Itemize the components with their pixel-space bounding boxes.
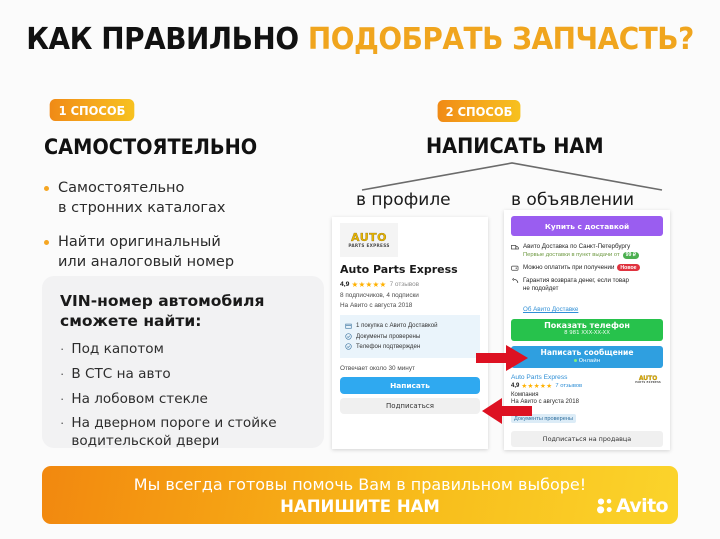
avito-logo: Avito [597,495,668,517]
star-rating-icon: ★★★★★ [351,280,386,289]
delivery-city-text: Авито Доставка по Санкт-Петербургу [523,243,639,251]
dash-bullet-icon: · [60,341,64,358]
list-item: · На дверном пороге и стойке водительско… [60,415,308,451]
list-item: · В СТС на авто [60,366,308,384]
bullet-dot-icon [44,186,49,191]
dash-bullet-icon: · [60,391,64,408]
subscribe-button[interactable]: Подписаться [340,398,480,414]
list-item: Можно оплатить при получении Новое [511,264,663,272]
delivery-price-row: Первые доставки в пункт выдачи от 99 ₽ [523,252,639,259]
method-2-sub-label-profile: в профиле [356,190,451,210]
trust-item-text: Телефон подтвержден [356,343,420,350]
logo-primary-text: AUTO [351,232,387,243]
money-back-guarantee-text: Гарантия возврата денег, если товар не п… [523,277,629,293]
method-1-badge: 1 СПОСОБ [50,99,135,121]
avito-wordmark: Avito [616,495,668,517]
new-badge: Новое [617,264,639,271]
reviews-count[interactable]: 7 отзывов [390,281,419,288]
poster-canvas: КАК ПРАВИЛЬНО ПОДОБРАТЬ ЗАПЧАСТЬ? 1 СПОС… [0,0,720,539]
write-button[interactable]: Написать [340,377,480,394]
about-delivery-link[interactable]: Об Авито Доставке [523,306,578,313]
masked-phone-number: 8 981 XXX-XX-XX [564,331,610,337]
avito-profile-card: AUTO PARTS EXPRESS Auto Parts Express 4,… [332,217,488,449]
followers-count: 8 подписчиков, 4 подписки [340,292,480,299]
seller-logo-secondary: PARTS EXPRESS [635,382,661,385]
seller-reviews-count[interactable]: 7 отзывов [555,383,582,389]
online-status-label: Онлайн [579,358,601,364]
vin-item-text: На дверном пороге и стойке водительской … [71,415,276,451]
star-rating-icon: ★★★★★ [521,382,552,390]
method-2-heading: НАПИСАТЬ НАМ [426,134,604,158]
method-1-bullet-list: Самостоятельно в стронних каталогах Найт… [44,178,334,286]
method-2-badge: 2 СПОСОБ [438,100,521,122]
list-item: Документы проверены [345,333,475,340]
list-item: Найти оригинальный или аналоговый номер [44,232,334,272]
red-arrow-right-icon [476,344,528,372]
profile-name: Auto Parts Express [340,263,480,276]
delivery-box-icon [345,322,352,329]
check-circle-icon [345,333,352,340]
seller-member-since: На Авито с августа 2018 [511,399,663,405]
page-title-dark-part: КАК ПРАВИЛЬНО [26,22,308,57]
cta-line-2: НАПИШИТЕ НАМ [42,497,678,516]
subscribe-to-seller-button[interactable]: Подписаться на продавца [511,431,663,447]
delivery-price-text: Первые доставки в пункт выдачи от [523,252,620,258]
vin-item-text: Под капотом [71,341,164,359]
branch-connector-lines [356,160,668,194]
wallet-icon [511,264,519,272]
seller-type: Компания [511,392,663,398]
avito-dots-icon [597,498,614,514]
vin-item-text: На лобовом стекле [71,391,208,409]
write-message-button[interactable]: Написать сообщение Онлайн [511,346,663,368]
list-item: · Под капотом [60,341,308,359]
answer-time-text: Отвечает около 30 минут [340,365,480,372]
buy-with-delivery-button[interactable]: Купить с доставкой [511,216,663,236]
trust-item-text: 1 покупка с Авито Доставкой [356,322,438,329]
cta-line-1: Мы всегда готовы помочь Вам в правильном… [42,475,678,494]
member-since: На Авито с августа 2018 [340,302,480,309]
list-item: 1 покупка с Авито Доставкой [345,322,475,329]
seller-logo: AUTO PARTS EXPRESS [635,376,661,385]
list-item: Гарантия возврата денег, если товар не п… [511,277,663,293]
truck-icon [511,243,519,251]
auto-parts-express-logo: AUTO PARTS EXPRESS [340,223,398,257]
write-message-label: Написать сообщение [540,349,633,357]
vin-card-title: VIN-номер автомобиля сможете найти: [60,292,308,332]
list-item: Авито Доставка по Санкт-Петербургу Первы… [511,243,663,259]
page-title-gold-part: ПОДОБРАТЬ ЗАПЧАСТЬ? [308,22,694,57]
check-circle-icon [345,343,352,350]
bullet-dot-icon [44,240,49,245]
method-1-heading: САМОСТОЯТЕЛЬНО [44,135,257,159]
dash-bullet-icon: · [60,366,64,383]
logo-secondary-text: PARTS EXPRESS [348,244,389,248]
profile-rating-row: 4,9 ★★★★★ 7 отзывов [340,280,480,289]
return-arrow-icon [511,277,519,285]
red-arrow-left-icon [482,398,532,424]
online-dot-icon [574,359,577,362]
list-item: Самостоятельно в стронних каталогах [44,178,334,218]
bullet-text: Найти оригинальный или аналоговый номер [58,232,234,272]
seller-info-block: AUTO PARTS EXPRESS Auto Parts Express 4,… [511,374,663,447]
dash-bullet-icon: · [60,415,64,432]
cta-banner: Мы всегда готовы помочь Вам в правильном… [42,466,678,524]
list-item: · На лобовом стекле [60,391,308,409]
show-phone-button[interactable]: Показать телефон 8 981 XXX-XX-XX [511,319,663,341]
bullet-text: Самостоятельно в стронних каталогах [58,178,225,218]
delivery-price-badge: 99 ₽ [623,252,640,259]
rating-value: 4,9 [340,281,349,288]
seller-rating-value: 4,9 [511,383,519,389]
method-2-sub-label-ad: в объявлении [511,190,634,210]
pay-on-receipt-text: Можно оплатить при получении [523,264,614,272]
trust-signals-block: 1 покупка с Авито Доставкой Документы пр… [340,315,480,358]
page-title: КАК ПРАВИЛЬНО ПОДОБРАТЬ ЗАПЧАСТЬ? [25,22,695,57]
online-status-row: Онлайн [574,358,601,364]
vin-info-card: VIN-номер автомобиля сможете найти: · По… [42,276,324,448]
list-item: Телефон подтвержден [345,343,475,350]
vin-item-text: В СТС на авто [71,366,170,384]
trust-item-text: Документы проверены [356,333,420,340]
